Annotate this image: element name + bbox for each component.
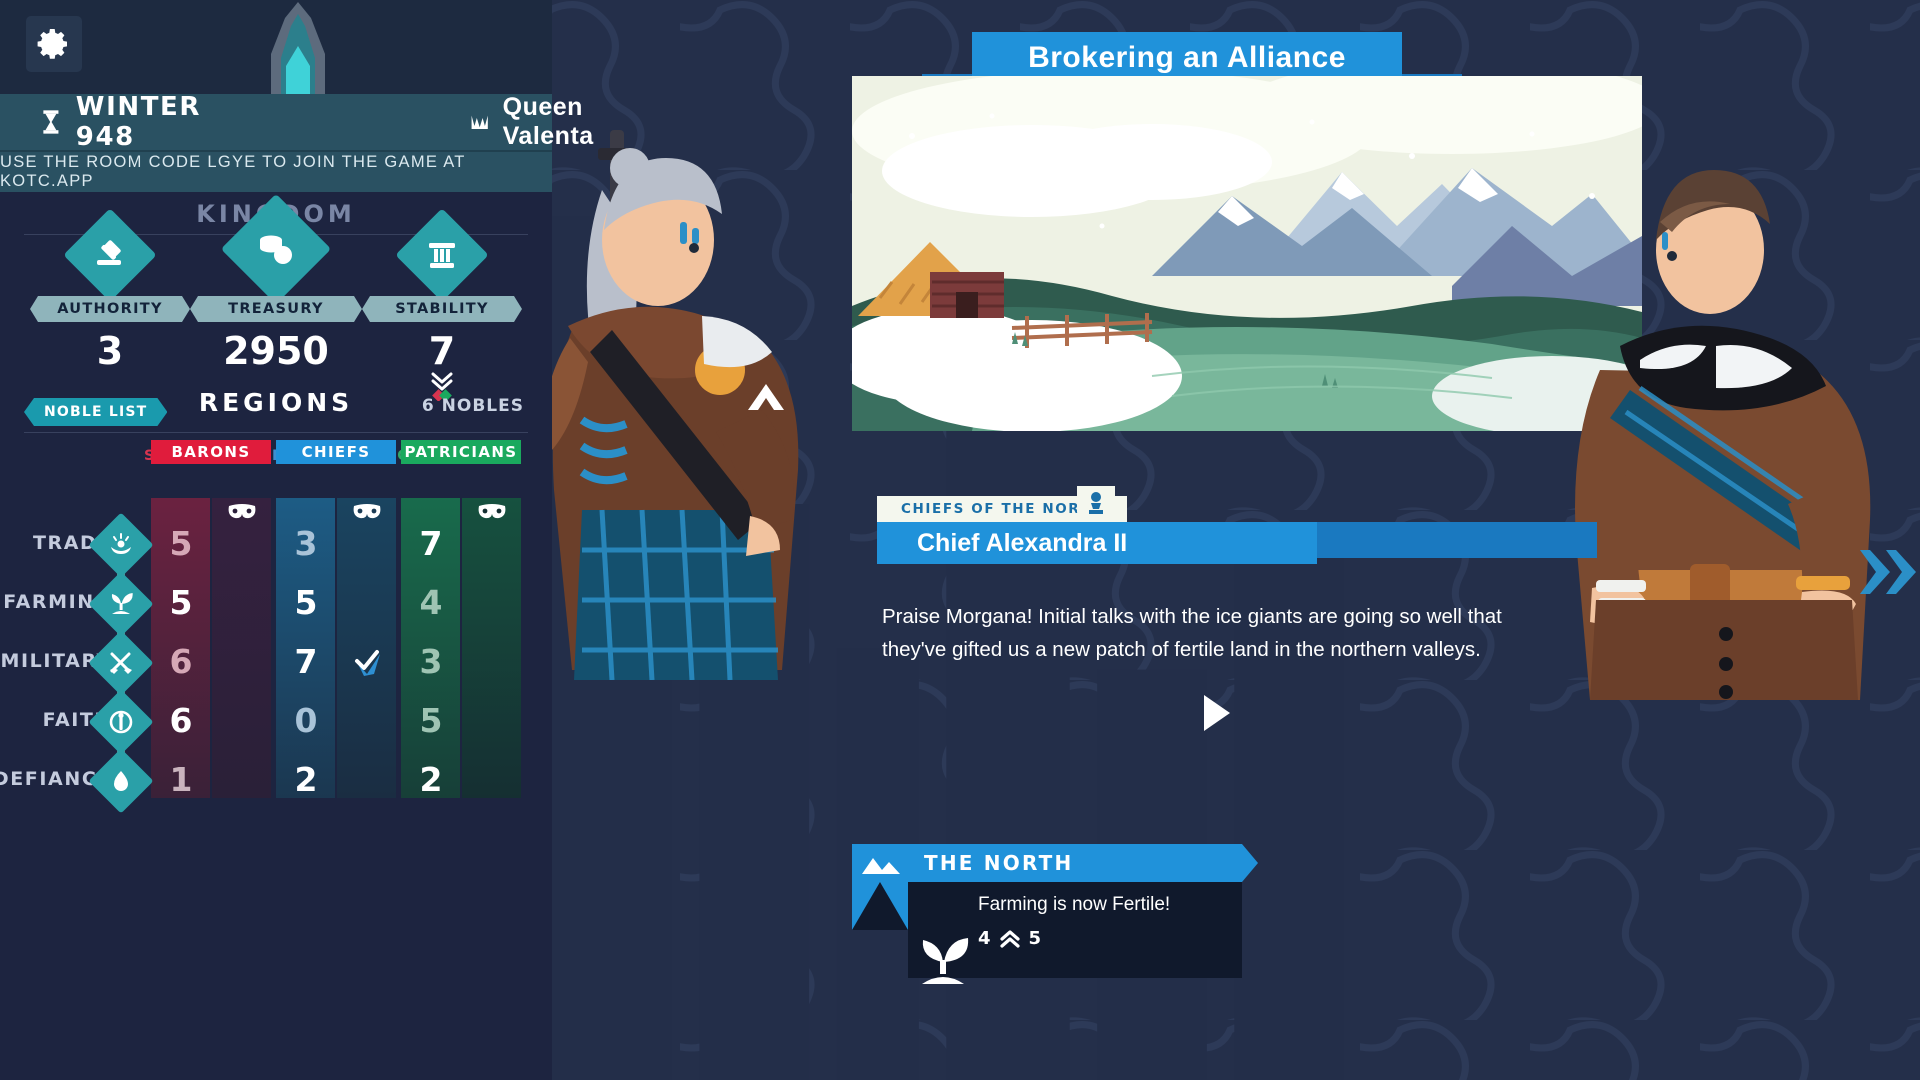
- notification-stat-change: 4 5: [978, 928, 1242, 949]
- mountain-icon: [852, 844, 908, 930]
- defiance-icon: [108, 768, 134, 794]
- ruler-indicator: Queen Valenta: [471, 93, 606, 151]
- dialogue-text: Praise Morgana! Initial talks with the i…: [882, 600, 1502, 666]
- room-code-bar: USE THE ROOM CODE LGYE TO JOIN THE GAME …: [0, 150, 552, 192]
- cell-military-barons: 6: [149, 642, 213, 681]
- cell-farming-chiefs: 5: [274, 583, 338, 622]
- farming-icon: [108, 591, 134, 617]
- trade-icon-diamond: [88, 512, 153, 577]
- notification-from-value: 4: [978, 928, 991, 949]
- check-marker-icon[interactable]: [352, 648, 382, 676]
- cell-faith-barons: 6: [149, 701, 213, 740]
- cell-military-chiefs: 7: [274, 642, 338, 681]
- faction-header-chiefs[interactable]: CHIEFS: [276, 440, 396, 464]
- cell-faith-patricians: 5: [399, 701, 463, 740]
- trade-icon: [108, 532, 134, 558]
- pillar-icon: [426, 239, 458, 271]
- stat-authority[interactable]: AUTHORITY 3: [30, 222, 190, 373]
- coins-icon: [257, 232, 295, 266]
- defiance-icon-diamond: [88, 748, 153, 813]
- game-screen: Brokering an Alliance THE NORTH: [0, 0, 1920, 1080]
- notification-message: Farming is now Fertile!: [978, 894, 1242, 916]
- crown-icon: [471, 109, 488, 135]
- main-stage: Brokering an Alliance THE NORTH: [552, 0, 1920, 1080]
- speaker-name-banner: Chief Alexandra II: [877, 522, 1317, 564]
- notification-banner-point: [1242, 844, 1258, 882]
- military-icon-diamond: [88, 630, 153, 695]
- region-row-faith: FAITH 6 0 5: [0, 693, 552, 752]
- region-row-defiance: DEFIANCE 1 2 2: [0, 752, 552, 811]
- faction-header-barons[interactable]: BARONS: [151, 440, 271, 464]
- authority-label: AUTHORITY: [30, 296, 190, 322]
- settings-button[interactable]: [26, 16, 82, 72]
- double-chevron-up-icon: [1000, 930, 1020, 948]
- region-row-military: MILITARY 6 7: [0, 634, 552, 693]
- farming-icon-diamond: [88, 571, 153, 636]
- cell-military-patricians: 3: [399, 642, 463, 681]
- left-hud-panel: WINTER 948 Queen Valenta USE THE ROOM CO…: [0, 0, 552, 1080]
- military-chiefs-check[interactable]: [337, 648, 396, 676]
- nobles-count: 6 NOBLES: [422, 396, 524, 416]
- gavel-icon: [93, 238, 127, 272]
- next-button[interactable]: [1202, 693, 1232, 738]
- scene-illustration: [852, 76, 1642, 431]
- kingdom-stats: AUTHORITY 3 TREASURY 2950: [0, 222, 552, 382]
- cell-defiance-chiefs: 2: [274, 760, 338, 799]
- authority-value: 3: [30, 329, 190, 373]
- cell-farming-barons: 5: [149, 583, 213, 622]
- treasury-value: 2950: [190, 329, 362, 373]
- faction-header-patricians[interactable]: PATRICIANS: [401, 440, 521, 464]
- farming-sprout-icon: [914, 932, 972, 988]
- cell-defiance-barons: 1: [149, 760, 213, 799]
- chess-pawn-icon: [1086, 491, 1106, 517]
- cell-trade-barons: 5: [149, 524, 213, 563]
- treasury-label: TREASURY: [190, 296, 362, 322]
- scene-title: Brokering an Alliance: [1028, 41, 1346, 75]
- stat-stability[interactable]: STABILITY 7: [362, 222, 522, 406]
- cell-faith-chiefs: 0: [274, 701, 338, 740]
- region-row-trade: TRADE 5 3 7: [0, 516, 552, 575]
- notification-body: Farming is now Fertile! 4 5: [908, 882, 1242, 978]
- right-character: [1540, 140, 1920, 700]
- cell-farming-patricians: 4: [399, 583, 463, 622]
- season-label: WINTER 948: [76, 92, 209, 152]
- speaker-name: Chief Alexandra II: [917, 529, 1127, 558]
- play-triangle-icon[interactable]: [1202, 693, 1232, 733]
- status-bar: WINTER 948 Queen Valenta: [0, 94, 552, 150]
- stat-treasury[interactable]: TREASURY 2950: [190, 210, 362, 373]
- region-row-farming: FARMING 5 5 4: [0, 575, 552, 634]
- season-indicator: WINTER 948: [0, 92, 209, 152]
- gear-icon[interactable]: [37, 27, 71, 61]
- region-stat-rows: TRADE 5 3 7: [0, 498, 552, 793]
- cell-defiance-patricians: 2: [399, 760, 463, 799]
- region-icon-box: [852, 844, 908, 930]
- notification-header: THE NORTH: [852, 844, 1242, 882]
- hourglass-icon: [42, 105, 60, 139]
- faith-icon-diamond: [88, 689, 153, 754]
- authority-diamond: [63, 208, 156, 301]
- notification-to-value: 5: [1029, 928, 1042, 949]
- treasury-diamond: [221, 194, 331, 304]
- military-icon: [108, 650, 134, 676]
- stability-label: STABILITY: [362, 296, 522, 322]
- stability-diamond: [395, 208, 488, 301]
- ruler-name: Queen Valenta: [503, 93, 607, 151]
- stability-value: 7: [362, 329, 522, 373]
- notification-card[interactable]: THE NORTH Farming is now Fertile! 4: [852, 844, 1242, 882]
- regions-divider: [24, 432, 528, 433]
- cell-trade-patricians: 7: [399, 524, 463, 563]
- cell-trade-chiefs: 3: [274, 524, 338, 563]
- room-code-text: USE THE ROOM CODE LGYE TO JOIN THE GAME …: [0, 153, 552, 191]
- notification-region-bar: THE NORTH: [908, 844, 1242, 882]
- notification-region: THE NORTH: [924, 851, 1073, 875]
- faith-icon: [108, 709, 134, 735]
